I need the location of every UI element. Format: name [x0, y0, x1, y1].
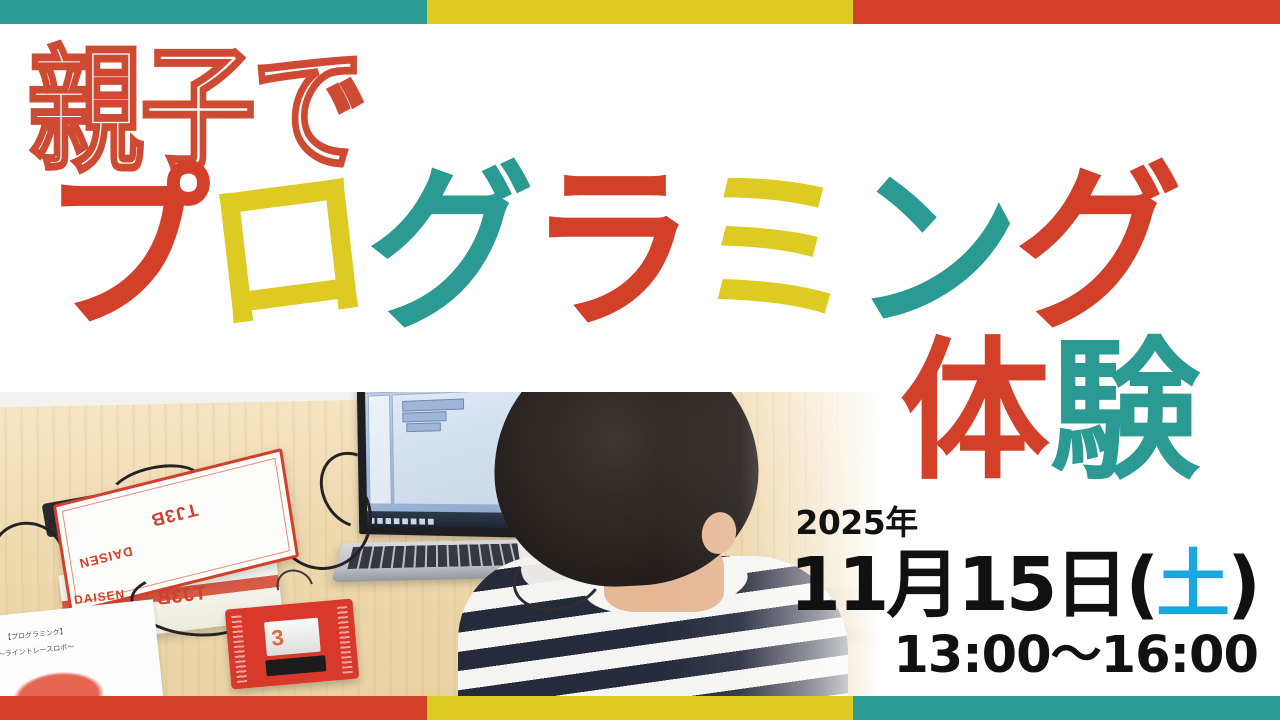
headline-char-4: ミ [680, 150, 861, 350]
photo-board-chip [265, 655, 326, 676]
headline-char-5: ン [852, 160, 1014, 340]
top-bar-segment-teal [0, 0, 427, 24]
event-photo: DAISEN TJ3B DAISEN TJ3B 【プログラミング】 〜ライントレ… [0, 392, 880, 696]
photo-ide-block [406, 422, 441, 432]
headline-char-3: ラ [528, 160, 690, 340]
top-color-bar [0, 0, 1280, 24]
bottom-bar-segment-red [0, 696, 427, 720]
photo-inner: DAISEN TJ3B DAISEN TJ3B 【プログラミング】 〜ライントレ… [0, 392, 880, 696]
paren-open: ( [1125, 542, 1156, 628]
headline-char-0: プ [42, 160, 204, 340]
event-time: 13:00〜16:00 [789, 630, 1258, 681]
headline-sub-char-0: 体 [900, 324, 1050, 501]
headline-char-2: グ [366, 160, 528, 340]
headline-main-text: プログラミング [42, 160, 1176, 340]
event-date: 11月15日(土) [789, 548, 1258, 622]
photo-ide-block [402, 411, 446, 422]
event-date-block: 2025年 11月15日(土) 13:00〜16:00 [789, 506, 1258, 681]
poster-canvas: DAISEN TJ3B DAISEN TJ3B 【プログラミング】 〜ライントレ… [0, 0, 1280, 720]
headline-char-1: ロ [194, 150, 375, 350]
photo-paper-line-1: 【プログラミング】 [4, 626, 68, 643]
headline-char-6: グ [1014, 160, 1176, 340]
event-day-of-week: 土 [1156, 542, 1227, 628]
event-year: 2025年 [789, 506, 1258, 539]
bottom-color-bar [0, 696, 1280, 720]
photo-paper-line-2: 〜ライントレースロボ〜 [0, 642, 75, 660]
bottom-bar-segment-teal [853, 696, 1280, 720]
bottom-bar-segment-yellow [427, 696, 853, 720]
event-month-day: 11月15日 [789, 542, 1125, 628]
top-bar-segment-yellow [427, 0, 853, 24]
headline-sub-char-1: 験 [1050, 324, 1200, 501]
photo-robot-board: 3 [225, 599, 359, 690]
headline-sub-text: 体験 [900, 336, 1200, 489]
photo-paper-thumbnail [2, 662, 114, 696]
paren-close: ) [1227, 542, 1258, 628]
top-bar-segment-red [853, 0, 1280, 24]
photo-instruction-paper: 【プログラミング】 〜ライントレースロボ〜 [0, 599, 166, 696]
